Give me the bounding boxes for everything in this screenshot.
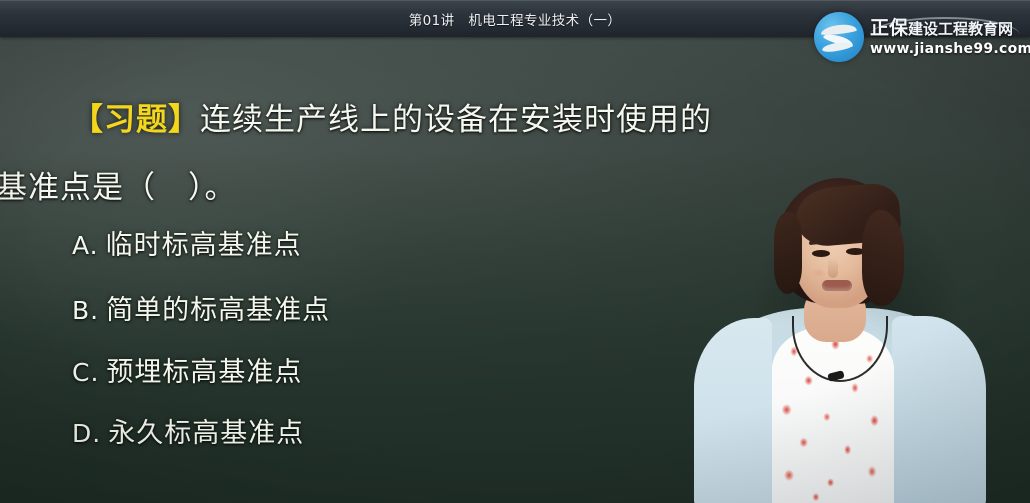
frame-vignette [0,0,1030,503]
brand-url: www.jianshe99.com [870,42,1030,56]
brand-watermark: 正保建设工程教育网 www.jianshe99.com [814,6,1026,68]
logo-swoosh-bottom [822,41,853,53]
jianshe99-logo-icon [814,12,864,62]
video-player-frame: 【习题】连续生产线上的设备在安装时使用的 基准点是（ ）。 A.临时标高基准点 … [0,0,1030,503]
